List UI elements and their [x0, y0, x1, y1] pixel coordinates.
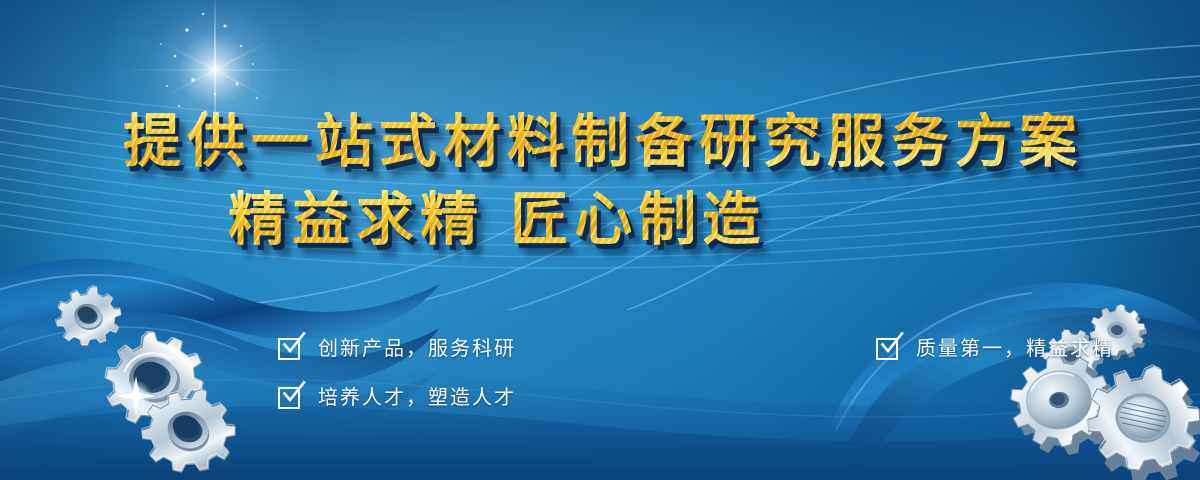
check-square-icon [278, 383, 304, 409]
check-mark-icon [279, 381, 307, 409]
feature-text: 质量第一，精益求精 [916, 332, 1114, 361]
check-square-icon [876, 334, 902, 360]
feature-item-3: 培养人才，塑造人才 [278, 381, 516, 410]
feature-text: 创新产品，服务科研 [318, 332, 516, 361]
feature-row: 培养人才，塑造人才 [278, 381, 1038, 410]
check-mark-icon [279, 332, 307, 360]
feature-text: 培养人才，塑造人才 [318, 381, 516, 410]
feature-row: 创新产品，服务科研 质量第一，精益求精 [278, 332, 1038, 361]
feature-item-1: 创新产品，服务科研 [278, 332, 516, 361]
gear-cluster-left [18, 268, 248, 480]
check-mark-icon [877, 332, 905, 360]
promotional-banner: 提供一站式材料制备研究服务方案 精益求精 匠心制造 创新产品，服务科研 [0, 0, 1200, 480]
check-square-icon [278, 334, 304, 360]
feature-list: 创新产品，服务科研 质量第一，精益求精 [278, 332, 1038, 410]
feature-item-2: 质量第一，精益求精 [876, 332, 1114, 361]
